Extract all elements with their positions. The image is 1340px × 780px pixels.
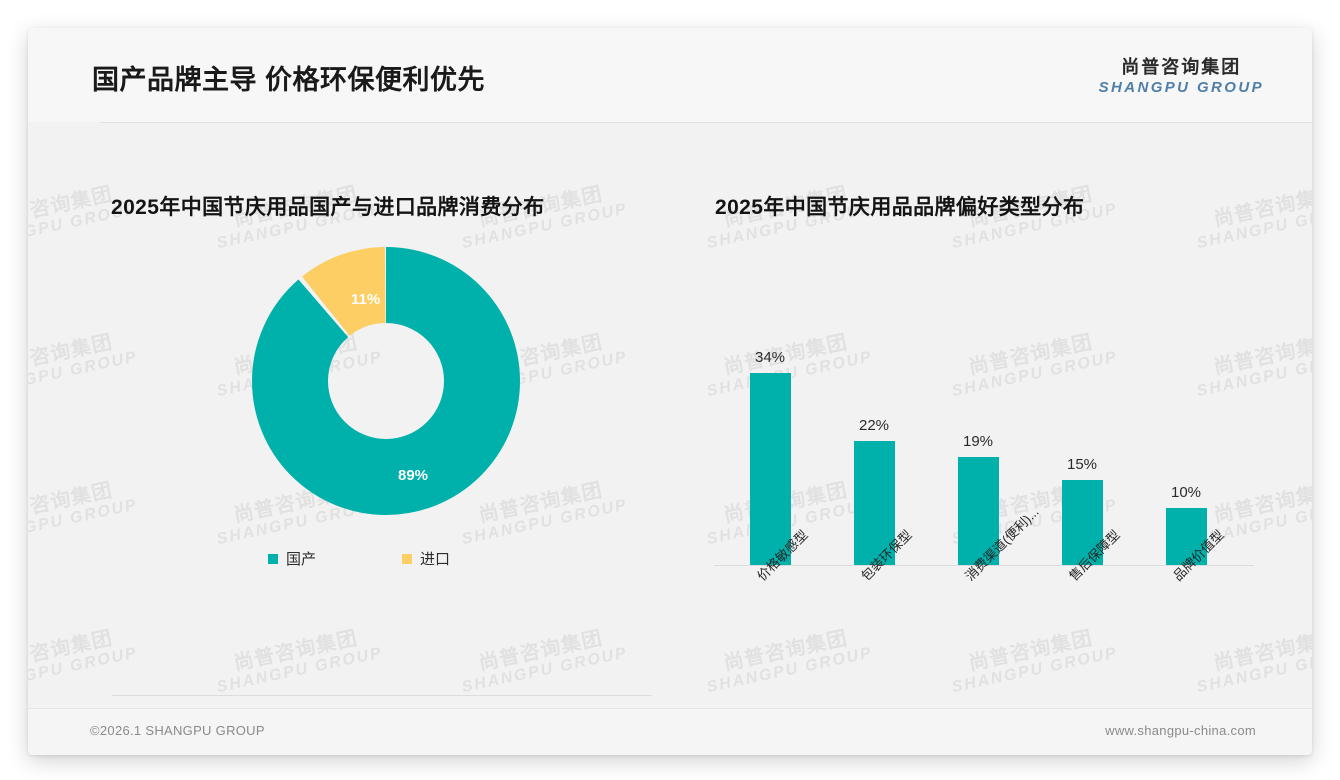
donut-svg xyxy=(246,241,526,521)
footnote-divider xyxy=(112,695,652,696)
chart-panel-donut: 2025年中国节庆用品国产与进口品牌消费分布 89% 11% 国产 进口 xyxy=(56,123,666,683)
slide-footer: ©2026.1 SHANGPU GROUP www.shangpu-china.… xyxy=(28,708,1312,755)
bar-value-label: 34% xyxy=(722,349,818,366)
bar-value-label: 10% xyxy=(1138,484,1234,501)
brand-logo-en: SHANGPU GROUP xyxy=(1099,79,1264,98)
legend-label-guochan: 国产 xyxy=(286,548,316,569)
slide-card: 尚普咨询集团SHANGPU GROUP尚普咨询集团SHANGPU GROUP尚普… xyxy=(28,28,1312,755)
donut-slice-guochan[interactable] xyxy=(290,285,482,477)
chart-panel-bar: 2025年中国节庆用品品牌偏好类型分布 34%22%19%15%10% 价格敏感… xyxy=(688,123,1288,683)
slide-content: 2025年中国节庆用品国产与进口品牌消费分布 89% 11% 国产 进口 xyxy=(28,123,1312,683)
bar-rect[interactable] xyxy=(750,373,791,565)
bar-chart-title: 2025年中国节庆用品品牌偏好类型分布 xyxy=(715,191,1084,221)
brand-logo: 尚普咨询集团 SHANGPU GROUP xyxy=(1099,56,1264,97)
footer-copyright: ©2026.1 SHANGPU GROUP xyxy=(90,723,265,738)
bar-value-label: 22% xyxy=(826,417,922,434)
page-title: 国产品牌主导 价格环保便利优先 xyxy=(92,58,485,97)
brand-logo-cn: 尚普咨询集团 xyxy=(1099,56,1264,79)
bar-value-label: 15% xyxy=(1034,456,1130,473)
donut-chart-title: 2025年中国节庆用品国产与进口品牌消费分布 xyxy=(111,191,545,221)
bar-chart-categories: 价格敏感型包装环保型消费渠道(便利)...售后保障型品牌价值型 xyxy=(714,571,1254,661)
legend-swatch-guochan xyxy=(268,554,278,564)
legend-swatch-jinkou xyxy=(402,554,412,564)
bar-value-label: 19% xyxy=(930,433,1026,450)
legend-label-jinkou: 进口 xyxy=(420,548,450,569)
legend-item-jinkou[interactable]: 进口 xyxy=(402,548,450,569)
legend-item-guochan[interactable]: 国产 xyxy=(268,548,316,569)
donut-chart: 89% 11% xyxy=(246,241,526,521)
bar-column[interactable] xyxy=(930,457,1026,565)
bar-column[interactable] xyxy=(826,441,922,565)
bar-chart-plot: 34%22%19%15%10% xyxy=(714,241,1254,566)
footer-website[interactable]: www.shangpu-china.com xyxy=(1105,723,1256,738)
slide-header: 国产品牌主导 价格环保便利优先 尚普咨询集团 SHANGPU GROUP xyxy=(28,28,1312,122)
header-divider xyxy=(100,122,1312,123)
donut-legend: 国产 进口 xyxy=(268,548,568,569)
